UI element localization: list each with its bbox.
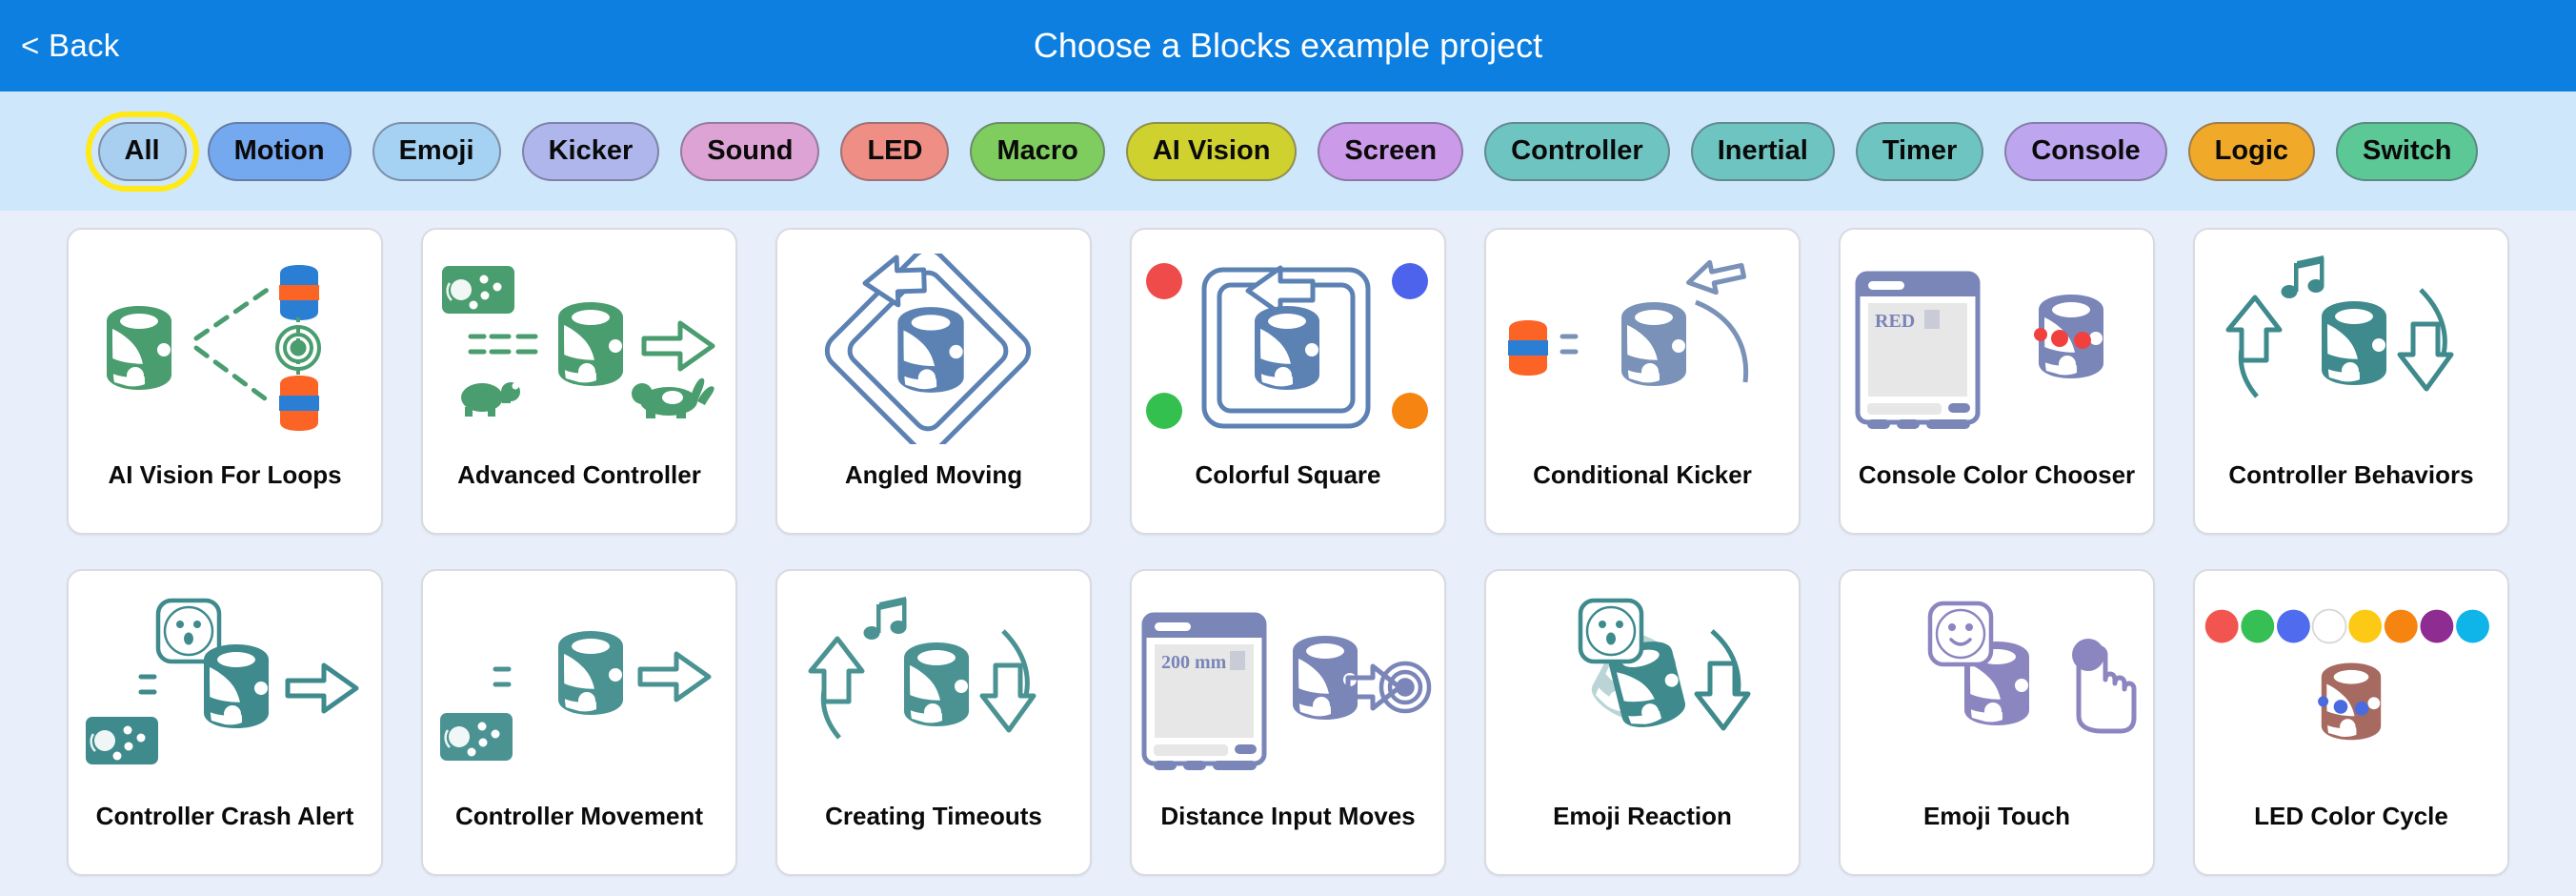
example-project-title: Angled Moving bbox=[837, 461, 1030, 533]
category-chip-all[interactable]: All bbox=[98, 122, 187, 181]
category-chip-label[interactable]: Motion bbox=[208, 122, 352, 181]
app-header: < Back Choose a Blocks example project bbox=[0, 0, 2576, 92]
example-project-title: Controller Movement bbox=[448, 803, 711, 874]
controller-behaviors-icon bbox=[2195, 230, 2507, 461]
distance-input-moves-icon: 200 mm bbox=[1132, 571, 1444, 803]
example-project-title: Distance Input Moves bbox=[1153, 803, 1422, 874]
example-project-title: Colorful Square bbox=[1187, 461, 1388, 533]
category-chip-label[interactable]: Switch bbox=[2336, 122, 2478, 181]
category-chip-logic[interactable]: Logic bbox=[2188, 122, 2315, 181]
category-chip-label[interactable]: Macro bbox=[970, 122, 1104, 181]
example-project-title: Emoji Touch bbox=[1916, 803, 2078, 874]
angled-moving-icon bbox=[777, 230, 1090, 461]
category-chip-kicker[interactable]: Kicker bbox=[522, 122, 660, 181]
page-title: Choose a Blocks example project bbox=[0, 26, 2576, 66]
category-chip-label[interactable]: Timer bbox=[1856, 122, 1983, 181]
example-project-title: Controller Crash Alert bbox=[89, 803, 362, 874]
svg-text:200 mm: 200 mm bbox=[1161, 652, 1227, 673]
controller-crash-alert-icon bbox=[69, 571, 381, 803]
example-project-card[interactable]: Controller Crash Alert bbox=[67, 569, 383, 876]
creating-timeouts-icon bbox=[777, 571, 1090, 803]
category-chip-label[interactable]: AI Vision bbox=[1126, 122, 1298, 181]
led-color-cycle-icon bbox=[2195, 571, 2507, 803]
console-color-chooser-icon: RED bbox=[1841, 230, 2153, 461]
conditional-kicker-icon bbox=[1486, 230, 1799, 461]
category-filter-bar: AllMotionEmojiKickerSoundLEDMacroAI Visi… bbox=[0, 92, 2576, 211]
category-chip-label[interactable]: Emoji bbox=[372, 122, 501, 181]
svg-text:RED: RED bbox=[1875, 311, 1915, 332]
category-chip-label[interactable]: All bbox=[98, 122, 187, 181]
category-chip-switch[interactable]: Switch bbox=[2336, 122, 2478, 181]
category-chip-label[interactable]: Controller bbox=[1484, 122, 1670, 181]
category-chip-label[interactable]: LED bbox=[840, 122, 949, 181]
category-chip-label[interactable]: Console bbox=[2004, 122, 2166, 181]
example-project-title: Emoji Reaction bbox=[1545, 803, 1740, 874]
category-chip-sound[interactable]: Sound bbox=[680, 122, 819, 181]
example-project-card[interactable]: Colorful Square bbox=[1130, 228, 1446, 535]
emoji-touch-icon bbox=[1841, 571, 2153, 803]
category-chip-label[interactable]: Inertial bbox=[1691, 122, 1835, 181]
example-project-grid: AI Vision For Loops bbox=[0, 211, 2576, 876]
example-project-card[interactable]: Controller Movement bbox=[421, 569, 737, 876]
example-project-card[interactable]: Emoji Reaction bbox=[1484, 569, 1801, 876]
example-project-title: Controller Behaviors bbox=[2221, 461, 2481, 533]
back-button[interactable]: < Back bbox=[21, 28, 120, 64]
category-chip-motion[interactable]: Motion bbox=[208, 122, 352, 181]
example-project-card[interactable]: Emoji Touch bbox=[1839, 569, 2155, 876]
category-chip-emoji[interactable]: Emoji bbox=[372, 122, 501, 181]
example-project-title: Console Color Chooser bbox=[1851, 461, 2143, 533]
category-chip-label[interactable]: Logic bbox=[2188, 122, 2315, 181]
example-project-card[interactable]: Controller Behaviors bbox=[2193, 228, 2509, 535]
category-chip-label[interactable]: Screen bbox=[1318, 122, 1463, 181]
emoji-reaction-icon bbox=[1486, 571, 1799, 803]
category-chip-controller[interactable]: Controller bbox=[1484, 122, 1670, 181]
example-project-card[interactable]: Conditional Kicker bbox=[1484, 228, 1801, 535]
example-project-card[interactable]: Angled Moving bbox=[775, 228, 1092, 535]
example-project-title: Conditional Kicker bbox=[1525, 461, 1760, 533]
example-project-card[interactable]: Creating Timeouts bbox=[775, 569, 1092, 876]
example-project-card[interactable]: LED Color Cycle bbox=[2193, 569, 2509, 876]
category-chip-ai-vision[interactable]: AI Vision bbox=[1126, 122, 1298, 181]
example-project-card[interactable]: AI Vision For Loops bbox=[67, 228, 383, 535]
example-project-card[interactable]: Advanced Controller bbox=[421, 228, 737, 535]
controller-movement-icon bbox=[423, 571, 735, 803]
example-project-title: AI Vision For Loops bbox=[100, 461, 349, 533]
advanced-controller-icon bbox=[423, 230, 735, 461]
category-chip-timer[interactable]: Timer bbox=[1856, 122, 1983, 181]
example-project-title: Advanced Controller bbox=[450, 461, 709, 533]
category-chip-led[interactable]: LED bbox=[840, 122, 949, 181]
example-project-card[interactable]: RED Console Color Chooser bbox=[1839, 228, 2155, 535]
example-project-title: Creating Timeouts bbox=[817, 803, 1050, 874]
colorful-square-icon bbox=[1132, 230, 1444, 461]
category-chip-screen[interactable]: Screen bbox=[1318, 122, 1463, 181]
category-chip-inertial[interactable]: Inertial bbox=[1691, 122, 1835, 181]
example-project-card[interactable]: 200 mm Distance Input Moves bbox=[1130, 569, 1446, 876]
category-chip-label[interactable]: Kicker bbox=[522, 122, 660, 181]
category-chip-macro[interactable]: Macro bbox=[970, 122, 1104, 181]
example-project-title: LED Color Cycle bbox=[2246, 803, 2456, 874]
category-chip-console[interactable]: Console bbox=[2004, 122, 2166, 181]
ai-vision-for-loops-icon bbox=[69, 230, 381, 461]
category-chip-label[interactable]: Sound bbox=[680, 122, 819, 181]
